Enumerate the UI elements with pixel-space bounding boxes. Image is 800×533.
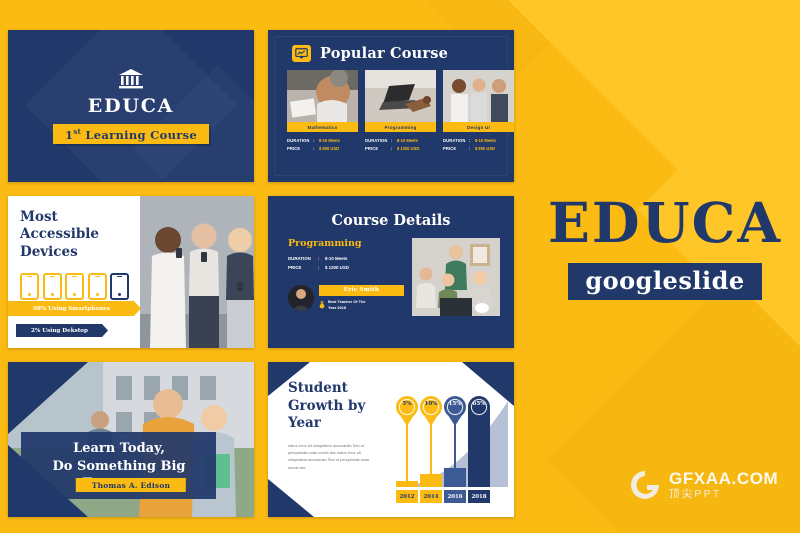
brand-name: EDUCA bbox=[540, 195, 790, 250]
smartphone-icon bbox=[88, 273, 107, 300]
smartphone-icon-dark bbox=[110, 273, 129, 300]
growth-pin-line bbox=[430, 418, 431, 487]
cover-tagline-sup: st bbox=[73, 127, 81, 136]
watermark-site: GFXAA.COM bbox=[669, 470, 778, 488]
devices-photo bbox=[140, 196, 254, 348]
growth-corner-bottomleft bbox=[268, 479, 314, 517]
teacher-avatar bbox=[288, 285, 314, 311]
course-duration-value: 8-10 Meets bbox=[397, 137, 418, 145]
smartphone-icon bbox=[43, 273, 62, 300]
course-card[interactable]: Programming DURATION:8-10 Meets PRICE:$ … bbox=[365, 70, 436, 152]
growth-title-line3: Year bbox=[288, 415, 321, 431]
growth-year-label: 2016 bbox=[444, 490, 466, 503]
details-price-label: PRICE bbox=[288, 264, 318, 273]
growth-year-label: 2018 bbox=[468, 490, 490, 503]
growth-title-line2: Growth by bbox=[288, 398, 365, 414]
g-letter-logo bbox=[628, 468, 662, 502]
course-card-list: Mathematics DURATION:8-10 Meets PRICE:$ … bbox=[275, 62, 507, 152]
course-meta: DURATION:8-10 Meets PRICE:$ 1200 USD bbox=[365, 137, 436, 152]
teacher-award-text: Best Teacher Of TheYear 2018 bbox=[328, 299, 366, 311]
devices-title-line3: Devices bbox=[20, 244, 78, 260]
growth-pin-line bbox=[406, 418, 407, 487]
growth-pin-stem: 10% bbox=[420, 396, 442, 487]
teacher-name: Eric Smith bbox=[319, 285, 404, 296]
meta-colon: : bbox=[318, 264, 325, 273]
growth-pin-stem: 5% bbox=[396, 396, 418, 487]
meta-colon: : bbox=[318, 255, 325, 264]
growth-pin: 65% bbox=[467, 396, 491, 426]
growth-year-label: 2014 bbox=[420, 490, 442, 503]
quote-corner-top bbox=[8, 362, 88, 434]
award-line2: Year 2018 bbox=[328, 305, 346, 310]
course-price-value: $ 1200 USD bbox=[397, 145, 419, 153]
growth-pin-line bbox=[478, 418, 479, 487]
watermark-subtitle: 顶尖PPT bbox=[669, 489, 778, 500]
course-meta: DURATION:8-10 Meets PRICE:$ 800 USD bbox=[287, 137, 358, 152]
course-duration-label: DURATION bbox=[287, 137, 313, 145]
course-tag: Programming bbox=[365, 122, 436, 132]
cover-tagline: 1st Learning Course bbox=[53, 124, 209, 145]
growth-pin-line bbox=[454, 418, 455, 487]
growth-pin: 15% bbox=[443, 396, 467, 426]
growth-title: Student Growth by Year bbox=[288, 380, 384, 433]
slide-course-details[interactable]: Course Details Programming DURATION:8-10… bbox=[268, 196, 514, 348]
course-meta: DURATION:8-10 Meets PRICE:$ 800 USD bbox=[443, 137, 514, 152]
course-price-label: PRICE bbox=[365, 145, 391, 153]
details-price-value: $ 1200 USD bbox=[325, 264, 349, 273]
growth-year-group: 2012201420162018 bbox=[396, 490, 490, 503]
award-line1: Best Teacher Of The bbox=[328, 299, 366, 304]
growth-pin: 5% bbox=[395, 396, 419, 426]
medal-icon bbox=[319, 301, 325, 309]
course-card[interactable]: Mathematics DURATION:8-10 Meets PRICE:$ … bbox=[287, 70, 358, 152]
details-duration-label: DURATION bbox=[288, 255, 318, 264]
details-duration-value: 8-10 Meets bbox=[325, 255, 347, 264]
course-price-value: $ 800 USD bbox=[475, 145, 495, 153]
slide-devices[interactable]: Most Accessible Devices 98% Using Smartp… bbox=[8, 196, 254, 348]
smartphone-icon bbox=[20, 273, 39, 300]
brand-product-badge: googleslide bbox=[568, 263, 761, 300]
course-photo bbox=[287, 70, 358, 122]
stat-bar-desktop: 2% Using Dekstop bbox=[16, 324, 108, 337]
growth-pin-stem: 15% bbox=[444, 396, 466, 487]
growth-pin-value: 65% bbox=[467, 401, 491, 407]
course-tag: Design UI bbox=[443, 122, 514, 132]
stat-desktop-label: 2% Using Dekstop bbox=[31, 328, 88, 334]
slide-popular-course[interactable]: Popular Course bbox=[268, 30, 514, 182]
growth-pin-value: 10% bbox=[419, 401, 443, 407]
course-duration-value: 8-10 Meets bbox=[319, 137, 340, 145]
monitor-chart-icon bbox=[292, 45, 311, 62]
growth-year-label: 2012 bbox=[396, 490, 418, 503]
bank-building-icon bbox=[118, 68, 144, 90]
devices-title-line2: Accessible bbox=[20, 226, 99, 242]
brand-panel: EDUCA googleslide bbox=[540, 195, 790, 300]
course-price-label: PRICE bbox=[443, 145, 469, 153]
quote-line2: Do Something Big bbox=[52, 459, 185, 474]
details-subject: Programming bbox=[288, 238, 404, 249]
popular-title: Popular Course bbox=[320, 45, 448, 62]
teacher-block: Eric Smith Best Teacher Of TheYear 2018 bbox=[288, 285, 404, 311]
course-price-value: $ 800 USD bbox=[319, 145, 339, 153]
poster-stage: EDUCA 1st Learning Course Popular Course bbox=[0, 0, 800, 533]
growth-pin-value: 5% bbox=[395, 401, 419, 407]
phone-icon-group bbox=[20, 273, 140, 300]
watermark: GFXAA.COM 顶尖PPT bbox=[628, 468, 778, 502]
growth-pin-group: 5%10%15%65% bbox=[396, 396, 490, 487]
course-duration-label: DURATION bbox=[443, 137, 469, 145]
growth-pin-value: 15% bbox=[443, 401, 467, 407]
growth-chart: 5%10%15%65% 2012201420162018 bbox=[388, 376, 498, 505]
teacher-award: Best Teacher Of TheYear 2018 bbox=[319, 299, 404, 311]
cover-tagline-rest: Learning Course bbox=[81, 127, 197, 141]
course-duration-value: 8-10 Meets bbox=[475, 137, 496, 145]
stat-bar-smartphones: 98% Using Smartphones bbox=[8, 301, 141, 316]
popular-header: Popular Course bbox=[275, 37, 507, 62]
details-photo bbox=[412, 238, 500, 316]
slide-deck: EDUCA 1st Learning Course Popular Course bbox=[8, 30, 516, 505]
devices-title-line1: Most bbox=[20, 209, 58, 225]
course-card[interactable]: Design UI DURATION:8-10 Meets PRICE:$ 80… bbox=[443, 70, 514, 152]
course-price-label: PRICE bbox=[287, 145, 313, 153]
course-photo bbox=[365, 70, 436, 122]
slide-student-growth[interactable]: Student Growth by Year natus error sit v… bbox=[268, 362, 514, 517]
slide-quote[interactable]: Learn Today, Do Something Big Tomorrow T… bbox=[8, 362, 254, 517]
growth-body-text: natus error sit voluptatem accusantiu Se… bbox=[288, 442, 380, 471]
stat-smartphones-label: 98% Using Smartphones bbox=[33, 306, 110, 312]
course-photo bbox=[443, 70, 514, 122]
details-title: Course Details bbox=[274, 202, 508, 229]
growth-pin: 10% bbox=[419, 396, 443, 426]
quote-author: Thomas A. Edison bbox=[76, 478, 186, 492]
growth-title-line1: Student bbox=[288, 380, 348, 396]
smartphone-icon bbox=[65, 273, 84, 300]
devices-title: Most Accessible Devices bbox=[20, 209, 140, 261]
course-tag: Mathematics bbox=[287, 122, 358, 132]
slide-cover[interactable]: EDUCA 1st Learning Course bbox=[8, 30, 254, 182]
details-meta: DURATION:8-10 Meets PRICE:$ 1200 USD bbox=[288, 255, 404, 273]
course-duration-label: DURATION bbox=[365, 137, 391, 145]
quote-line1: Learn Today, bbox=[73, 441, 165, 456]
growth-pin-stem: 65% bbox=[468, 396, 490, 487]
cover-brand: EDUCA bbox=[53, 95, 209, 117]
